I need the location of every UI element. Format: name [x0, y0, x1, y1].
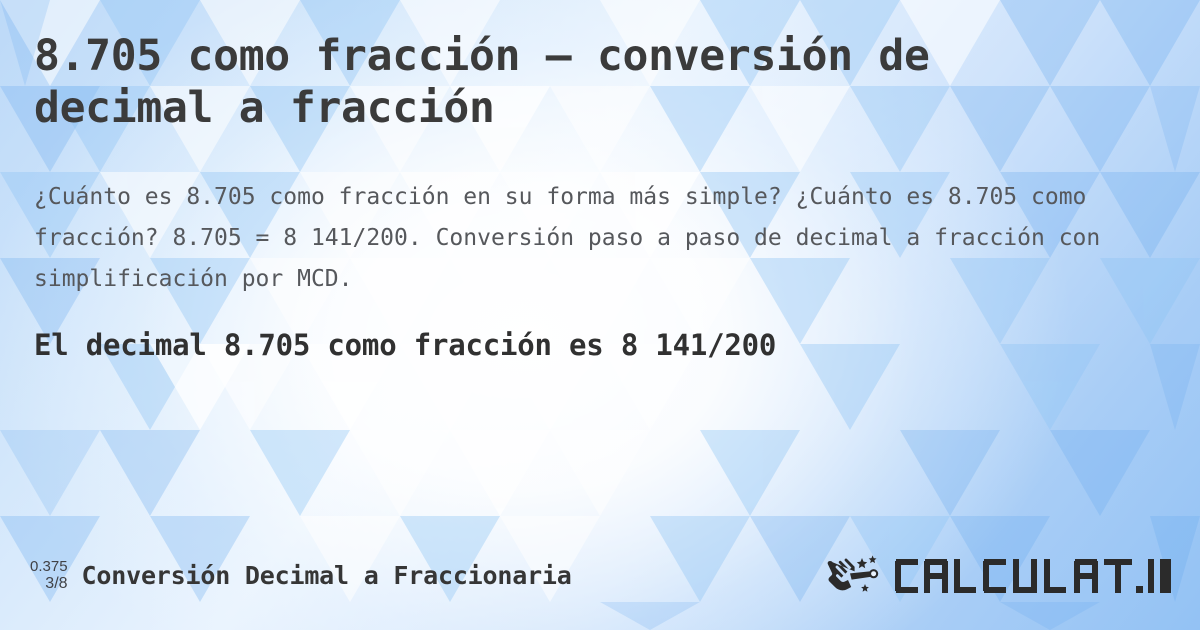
logo[interactable]: CALCULAT.IO	[824, 553, 1172, 599]
footer-brand-left: 0.375 3/8 Conversión Decimal a Fracciona…	[30, 559, 572, 594]
hand-magic-wand-icon	[824, 553, 888, 599]
description-text: ¿Cuánto es 8.705 como fracción en su for…	[34, 177, 1114, 300]
fraction-badge-denominator: 3/8	[45, 575, 67, 593]
answer-text: El decimal 8.705 como fracción es 8 141/…	[34, 328, 1166, 362]
fraction-badge-numerator: 0.375	[30, 559, 68, 576]
fraction-badge-icon: 0.375 3/8	[30, 559, 68, 594]
site-title: Conversión Decimal a Fraccionaria	[82, 561, 572, 590]
og-card: 8.705 como fracción – conversión de deci…	[0, 0, 1200, 630]
card-content: 8.705 como fracción – conversión de deci…	[0, 0, 1200, 630]
card-footer: 0.375 3/8 Conversión Decimal a Fracciona…	[0, 548, 1200, 604]
logo-wordmark: CALCULAT.IO	[894, 555, 1172, 597]
page-title: 8.705 como fracción – conversión de deci…	[34, 30, 1124, 135]
